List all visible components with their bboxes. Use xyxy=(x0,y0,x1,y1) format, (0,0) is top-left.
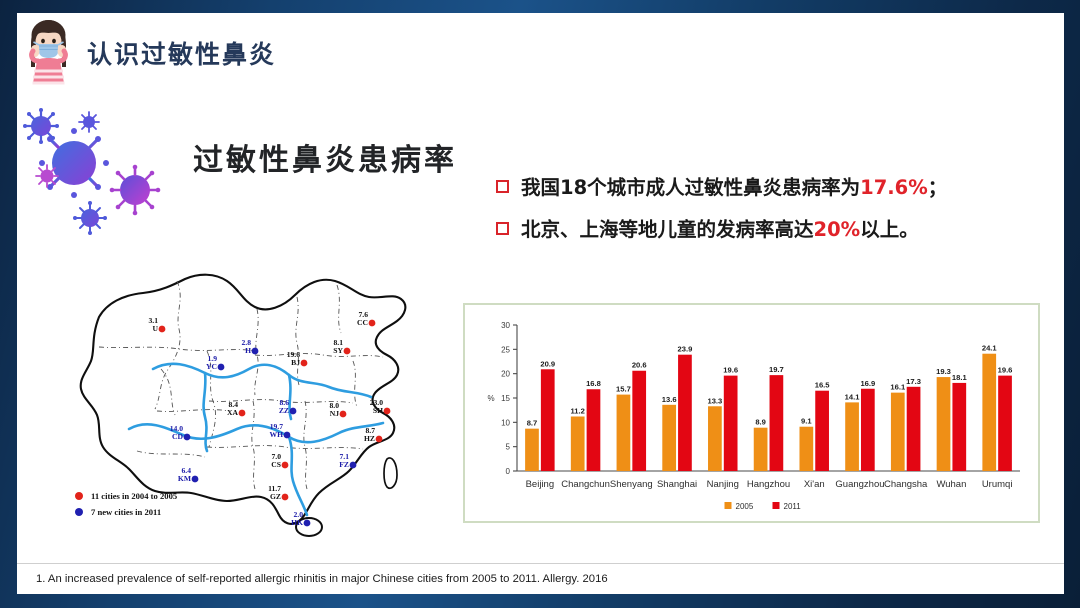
bar-value-label: 13.6 xyxy=(662,395,677,404)
map-legend-item-2: 7 new cities in 2011 xyxy=(75,507,177,517)
red-square-bullet-icon xyxy=(496,222,509,235)
bar-2011-beijing xyxy=(541,369,555,471)
y-tick-label: 15 xyxy=(501,394,510,403)
bar-2011-shenyang xyxy=(632,371,646,471)
y-tick-label: 30 xyxy=(501,321,510,330)
bar-2011-shanghai xyxy=(678,355,692,471)
x-tick-label: Xi'an xyxy=(804,479,825,490)
map-point-code: XA xyxy=(227,408,238,417)
y-axis-title: % xyxy=(487,394,494,403)
x-tick-label: Shanghai xyxy=(657,479,697,490)
city-dot-red-icon xyxy=(159,326,166,333)
map-point-code: H xyxy=(245,346,251,355)
y-tick-label: 10 xyxy=(501,418,510,427)
map-point-code: HZ xyxy=(364,434,375,443)
slide-canvas: 认识过敏性鼻炎 xyxy=(17,13,1064,594)
bar-2005-nanjing xyxy=(708,406,722,471)
map-legend-label-2: 7 new cities in 2011 xyxy=(91,507,161,517)
bar-value-label: 20.6 xyxy=(632,361,647,370)
bar-value-label: 19.3 xyxy=(936,367,951,376)
bar-2005-xian xyxy=(799,427,813,471)
city-dot-red-icon xyxy=(340,411,347,418)
bar-2005-changsha xyxy=(891,393,905,471)
bullet-2-post: 以上。 xyxy=(860,218,919,241)
map-point-code: WH xyxy=(269,430,283,439)
map-point-code: GZ xyxy=(270,492,281,501)
bar-2005-guangzhou xyxy=(845,402,859,471)
bar-value-label: 9.1 xyxy=(801,417,812,426)
bar-2011-guangzhou xyxy=(861,389,875,471)
page-title: 认识过敏性鼻炎 xyxy=(87,35,276,71)
chart-inner: 051015202530%8.720.9Beijing11.216.8Chang… xyxy=(469,309,1034,517)
y-tick-label: 25 xyxy=(501,345,510,354)
city-dot-red-icon xyxy=(376,436,383,443)
bar-2005-wuhan xyxy=(937,377,951,471)
bullet-item-2: 北京、上海等地儿童的发病率高达20%以上。 xyxy=(496,215,1041,244)
map-point-code: SY xyxy=(333,346,343,355)
bar-2005-shenyang xyxy=(617,395,631,471)
footnote-text: 1. An increased prevalence of self-repor… xyxy=(36,573,608,585)
city-dot-blue-icon xyxy=(304,520,311,527)
slide-header: 认识过敏性鼻炎 xyxy=(17,13,1064,91)
x-tick-label: Beijing xyxy=(526,479,555,490)
girl-with-mask-icon xyxy=(17,13,80,91)
bar-value-label: 8.7 xyxy=(527,419,538,428)
map-point-code: CS xyxy=(271,460,281,469)
bar-value-label: 13.3 xyxy=(707,396,722,405)
map-point-sh: 23.0SH xyxy=(370,398,391,415)
y-tick-label: 5 xyxy=(506,443,511,452)
map-point-code: FZ xyxy=(339,460,349,469)
bar-value-label: 16.8 xyxy=(586,379,601,388)
city-dot-blue-icon xyxy=(290,408,297,415)
bar-value-label: 19.6 xyxy=(998,366,1013,375)
virus-decoration-icon xyxy=(22,108,202,243)
bullet-text-2: 北京、上海等地儿童的发病率高达20%以上。 xyxy=(521,215,919,244)
x-tick-label: Wuhan xyxy=(936,479,966,490)
bar-value-label: 19.7 xyxy=(769,365,784,374)
y-tick-label: 0 xyxy=(506,467,511,476)
bar-value-label: 18.1 xyxy=(952,373,968,382)
map-point-code: U xyxy=(153,324,159,333)
red-square-bullet-icon xyxy=(496,180,509,193)
x-tick-label: Shenyang xyxy=(610,479,653,490)
bullet-text-1: 我国18个城市成人过敏性鼻炎患病率为17.6%； xyxy=(521,173,947,202)
bar-value-label: 20.9 xyxy=(540,359,555,368)
city-dot-red-icon xyxy=(384,408,391,415)
bullet-1-pre: 我国18个城市成人过敏性鼻炎患病率为 xyxy=(521,176,860,199)
bar-2005-hangzhou xyxy=(754,428,768,471)
bar-2011-urumqi xyxy=(998,376,1012,471)
city-dot-blue-icon xyxy=(284,432,291,439)
map-point-code: BJ xyxy=(291,358,300,367)
y-tick-label: 20 xyxy=(501,370,510,379)
china-map-figure: 3.1U7.6CC8.1SY19.6BJ2.8H1.9YC8.4XA8.6ZZ8… xyxy=(57,251,447,541)
section-title: 过敏性鼻炎患病率 xyxy=(193,135,457,179)
city-dot-red-icon xyxy=(282,462,289,469)
x-tick-label: Changsha xyxy=(884,479,928,490)
x-tick-label: Guangzhou xyxy=(835,479,884,490)
bar-value-label: 16.1 xyxy=(890,383,906,392)
bar-value-label: 19.6 xyxy=(723,366,738,375)
map-point-code: HK xyxy=(291,518,303,527)
bullet-1-highlight: 17.6% xyxy=(860,176,928,199)
city-dot-blue-icon xyxy=(350,462,357,469)
bar-value-label: 14.1 xyxy=(845,392,861,401)
bar-value-label: 8.9 xyxy=(755,418,766,427)
bullet-2-pre: 北京、上海等地儿童的发病率高达 xyxy=(521,218,814,241)
bar-2011-nanjing xyxy=(724,376,738,471)
city-dot-blue-icon xyxy=(184,434,191,441)
bar-value-label: 23.9 xyxy=(678,345,693,354)
city-dot-red-icon xyxy=(344,348,351,355)
map-legend: 11 cities in 2004 to 2005 7 new cities i… xyxy=(75,491,177,523)
x-tick-label: Nanjing xyxy=(707,479,739,490)
x-tick-label: Urumqi xyxy=(982,479,1013,490)
bullet-list: 我国18个城市成人过敏性鼻炎患病率为17.6%； 北京、上海等地儿童的发病率高达… xyxy=(496,173,1041,258)
map-point-code: SH xyxy=(373,406,383,415)
bullet-1-post: ； xyxy=(928,176,948,199)
map-point-code: CD xyxy=(172,432,183,441)
bar-2011-hangzhou xyxy=(770,375,784,471)
bar-value-label: 16.9 xyxy=(860,379,875,388)
legend-dot-blue-icon xyxy=(75,508,83,516)
map-point-code: ZZ xyxy=(279,406,289,415)
bar-value-label: 11.2 xyxy=(571,406,585,415)
map-point-code: KM xyxy=(178,474,191,483)
x-tick-label: Hangzhou xyxy=(747,479,790,490)
map-point-code: NJ xyxy=(330,409,339,418)
bar-value-label: 16.5 xyxy=(815,381,831,390)
city-dot-blue-icon xyxy=(252,348,259,355)
chart-svg: 051015202530%8.720.9Beijing11.216.8Chang… xyxy=(469,309,1034,517)
map-point-code: YC xyxy=(206,362,217,371)
legend-label-2011: 2011 xyxy=(784,502,802,511)
map-legend-label-1: 11 cities in 2004 to 2005 xyxy=(91,491,177,501)
city-dot-red-icon xyxy=(282,494,289,501)
bar-2011-changchun xyxy=(587,389,601,471)
bar-value-label: 24.1 xyxy=(982,344,998,353)
map-point-code: CC xyxy=(357,318,368,327)
bar-2005-shanghai xyxy=(662,405,676,471)
city-dot-blue-icon xyxy=(218,364,225,371)
bullet-2-highlight: 20% xyxy=(814,218,861,241)
city-dot-red-icon xyxy=(301,360,308,367)
bar-value-label: 15.7 xyxy=(616,385,631,394)
footnote-bar: 1. An increased prevalence of self-repor… xyxy=(17,563,1064,594)
prevalence-bar-chart: 051015202530%8.720.9Beijing11.216.8Chang… xyxy=(463,303,1040,523)
legend-swatch-2011 xyxy=(773,502,780,509)
legend-dot-red-icon xyxy=(75,492,83,500)
legend-label-2005: 2005 xyxy=(736,502,754,511)
city-dot-blue-icon xyxy=(192,476,199,483)
map-legend-item-1: 11 cities in 2004 to 2005 xyxy=(75,491,177,501)
city-dot-red-icon xyxy=(369,320,376,327)
bar-2005-changchun xyxy=(571,416,585,471)
bullet-item-1: 我国18个城市成人过敏性鼻炎患病率为17.6%； xyxy=(496,173,1041,202)
bar-2011-wuhan xyxy=(952,383,966,471)
legend-swatch-2005 xyxy=(725,502,732,509)
bar-2005-beijing xyxy=(525,429,539,471)
bar-2005-urumqi xyxy=(982,354,996,471)
bar-2011-changsha xyxy=(907,387,921,471)
bar-value-label: 17.3 xyxy=(906,377,921,386)
city-dot-red-icon xyxy=(239,410,246,417)
bar-2011-xian xyxy=(815,391,829,471)
x-tick-label: Changchun xyxy=(561,479,610,490)
